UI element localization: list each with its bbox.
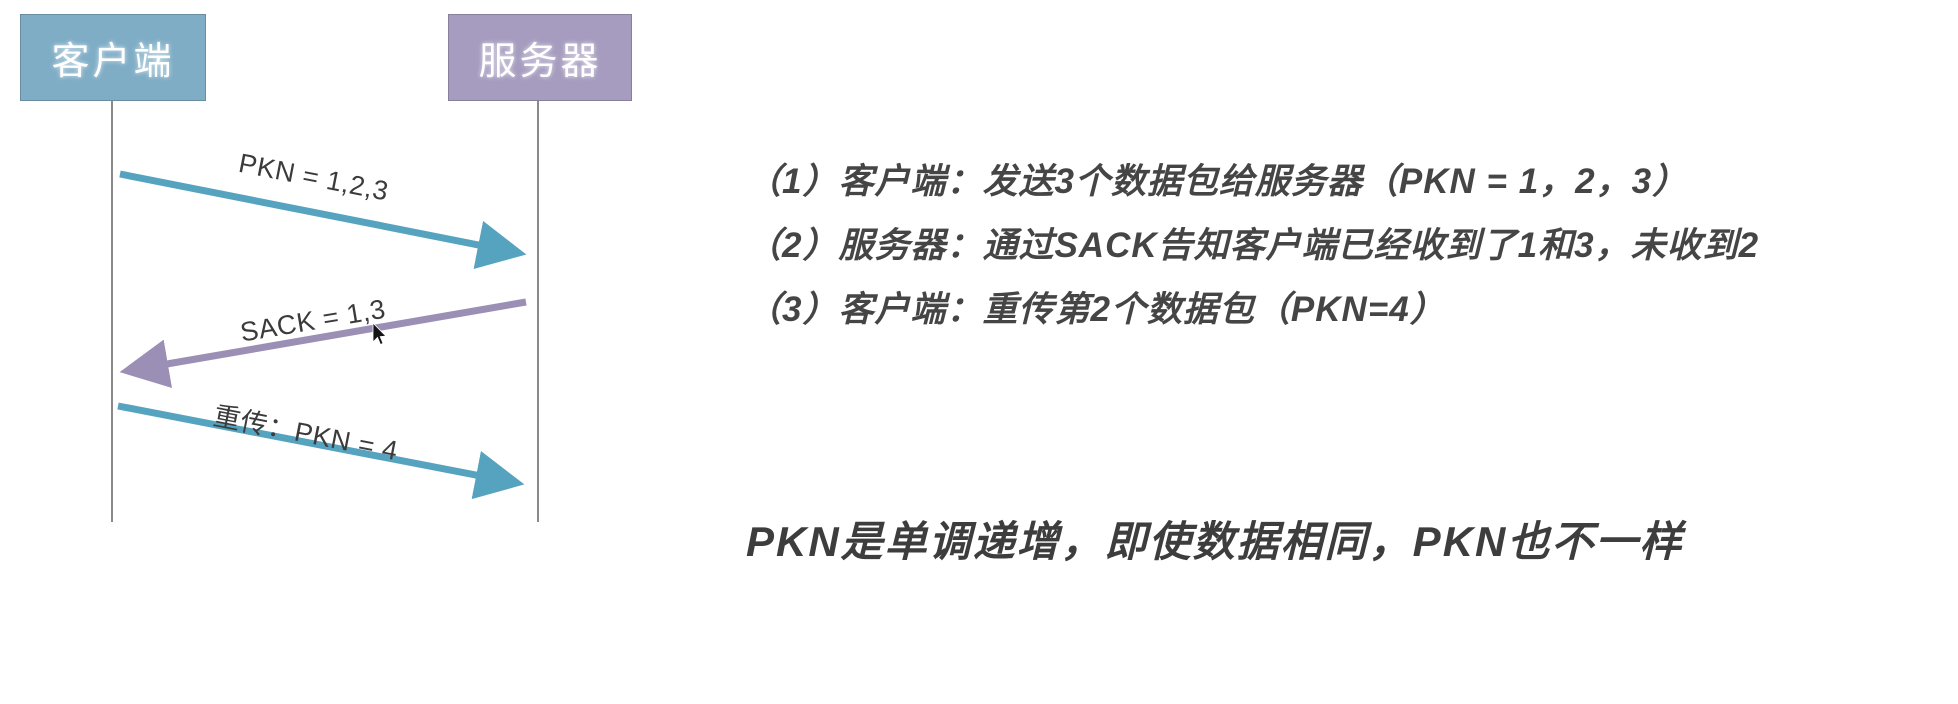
notes-block: （1）客户端：发送3个数据包给服务器（PKN = 1，2，3） （2）服务器：通… [746,150,1946,342]
sequence-diagram-canvas: 客户端 服务器 PKN = 1,2,3 SACK = 1, [0,0,1958,704]
note-line-2: （2）服务器：通过SACK告知客户端已经收到了1和3，未收到2 [746,214,1946,278]
summary-statement: PKN是单调递增，即使数据相同，PKN也不一样 [746,508,1683,569]
lifeline-server [537,101,539,522]
mouse-pointer-icon [372,322,390,348]
participant-label-server: 服务器 [478,30,601,85]
note-line-3: （3）客户端：重传第2个数据包（PKN=4） [746,278,1946,342]
participant-box-server[interactable]: 服务器 [448,14,632,101]
note-line-1: （1）客户端：发送3个数据包给服务器（PKN = 1，2，3） [746,150,1946,214]
participant-label-client: 客户端 [51,30,174,85]
participant-box-client[interactable]: 客户端 [20,14,206,101]
